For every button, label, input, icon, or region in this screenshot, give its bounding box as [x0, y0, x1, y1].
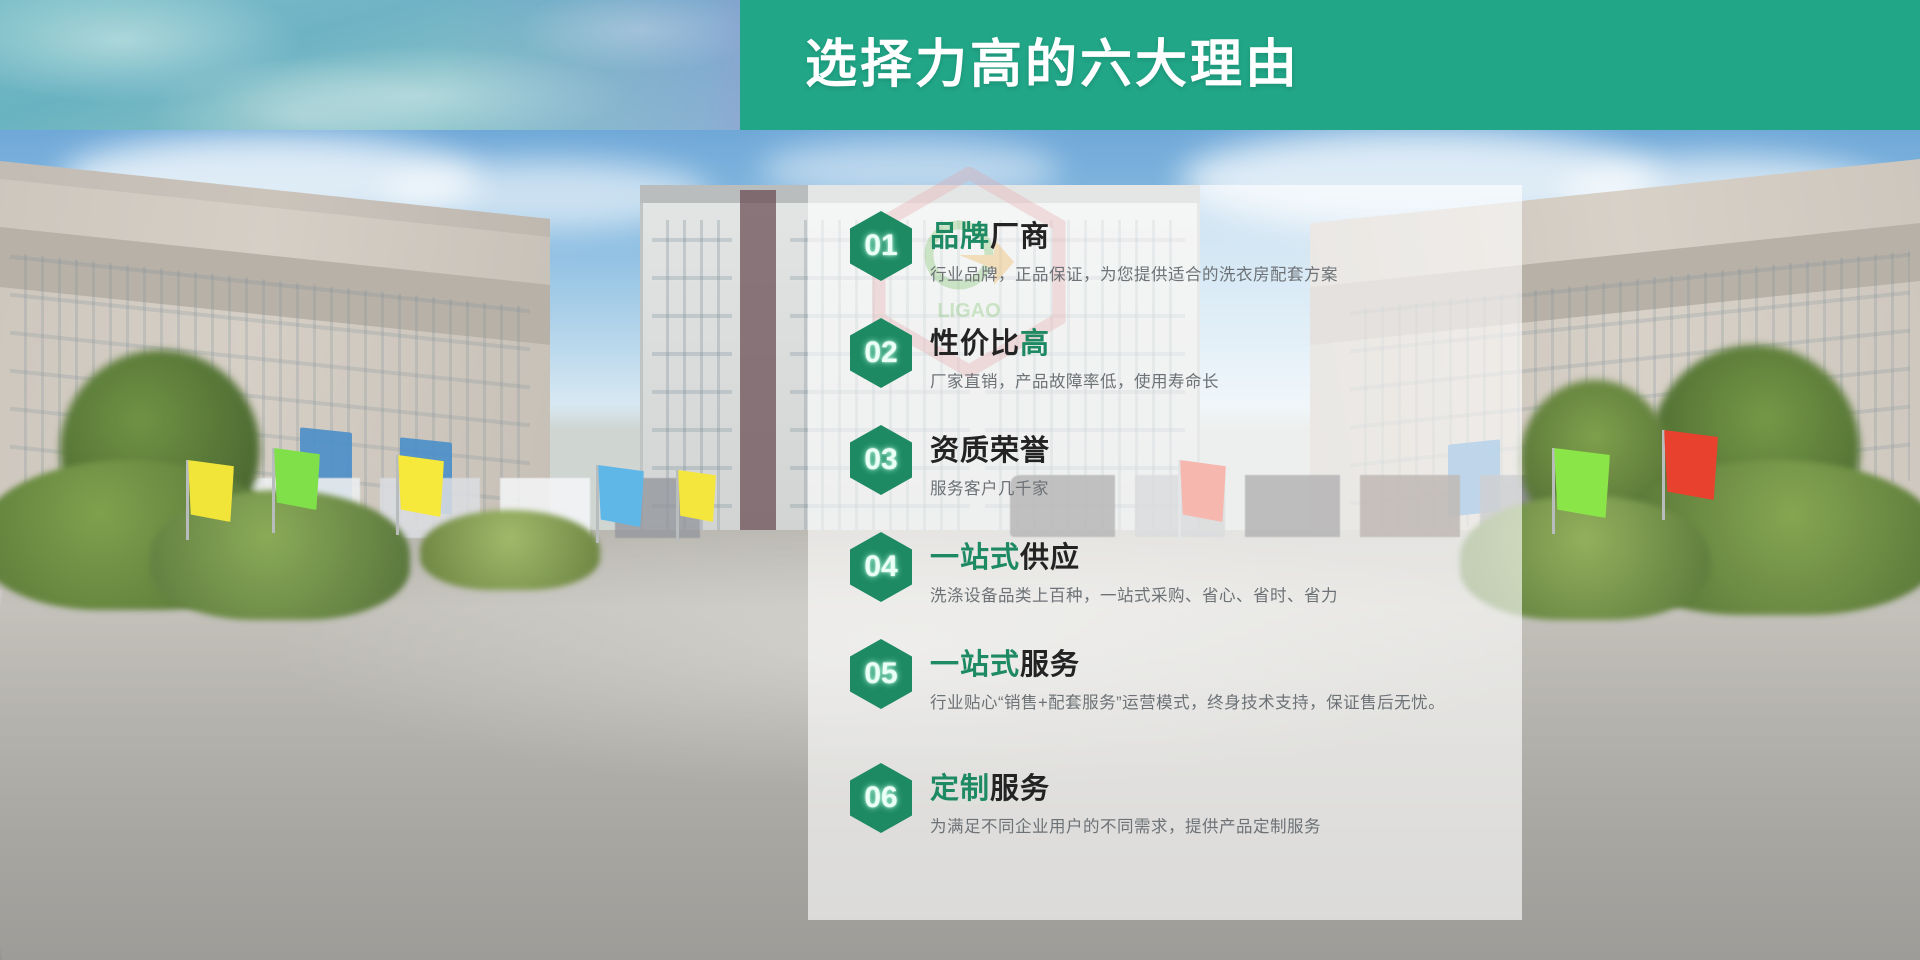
reasons-panel: LIGAO 01 品牌厂商 行业品牌，正品保证，为您提供适合的洗衣房配套方案 0… — [808, 185, 1522, 920]
flag-yellow — [678, 470, 716, 522]
hedge — [420, 510, 600, 590]
page-title: 选择力高的六大理由 — [805, 26, 1300, 104]
number-badge-03: 03 — [850, 425, 912, 495]
reason-desc-01: 行业品牌，正品保证，为您提供适合的洗衣房配套方案 — [930, 263, 1510, 288]
reason-title-03: 资质荣誉 — [930, 431, 1050, 471]
reason-desc-04: 洗涤设备品类上百种，一站式采购、省心、省时、省力 — [930, 584, 1510, 609]
title-dark-part: 服务 — [990, 773, 1050, 805]
reason-title-05: 一站式服务 — [930, 645, 1080, 685]
badge-number: 03 — [864, 443, 897, 477]
flag-yellow — [398, 455, 444, 517]
reason-desc-03: 服务客户几千家 — [930, 477, 1510, 502]
title-accent-part: 一站式 — [930, 649, 1020, 681]
flag-green — [274, 448, 320, 510]
flag-pole — [596, 465, 599, 543]
title-dark-part: 服务 — [1020, 649, 1080, 681]
reason-title-02: 性价比高 — [930, 324, 1050, 364]
flag-green — [1554, 448, 1610, 518]
reason-title-04: 一站式供应 — [930, 538, 1080, 578]
number-badge-04: 04 — [850, 532, 912, 602]
reason-title-06: 定制服务 — [930, 769, 1050, 809]
title-dark-part: 资质荣誉 — [930, 435, 1050, 467]
badge-number: 06 — [864, 781, 897, 815]
flag-pole — [1662, 430, 1665, 520]
flag-pole — [396, 455, 399, 535]
number-badge-06: 06 — [850, 763, 912, 833]
reasons-list: 01 品牌厂商 行业品牌，正品保证，为您提供适合的洗衣房配套方案 02 性价比高… — [808, 185, 1522, 920]
badge-number: 01 — [864, 229, 897, 263]
title-dark-part: 厂商 — [990, 221, 1050, 253]
flag-pole — [1552, 448, 1555, 534]
hedge — [150, 490, 410, 620]
number-badge-01: 01 — [850, 211, 912, 281]
flag-pole — [186, 460, 189, 540]
title-dark-part: 供应 — [1020, 542, 1080, 574]
title-accent-part: 高 — [1020, 328, 1050, 360]
number-badge-02: 02 — [850, 318, 912, 388]
reason-desc-02: 厂家直销，产品故障率低，使用寿命长 — [930, 370, 1510, 395]
badge-number: 05 — [864, 657, 897, 691]
flag-red — [1664, 430, 1718, 500]
flag-pole — [272, 448, 275, 533]
title-dark-part: 性价比 — [930, 328, 1020, 360]
badge-number: 04 — [864, 550, 897, 584]
flag-blue — [598, 465, 644, 527]
reason-desc-05: 行业贴心“销售+配套服务”运营模式，终身技术支持，保证售后无忧。 — [930, 691, 1510, 716]
reason-desc-06: 为满足不同企业用户的不同需求，提供产品定制服务 — [930, 815, 1510, 840]
header-sky-image — [0, 0, 740, 130]
title-accent-part: 品牌 — [930, 221, 990, 253]
badge-number: 02 — [864, 336, 897, 370]
title-accent-part: 定制 — [930, 773, 990, 805]
reason-title-01: 品牌厂商 — [930, 217, 1050, 257]
flag-yellow — [188, 460, 234, 522]
number-badge-05: 05 — [850, 639, 912, 709]
title-accent-part: 一站式 — [930, 542, 1020, 574]
page-header: 选择力高的六大理由 — [0, 0, 1920, 130]
